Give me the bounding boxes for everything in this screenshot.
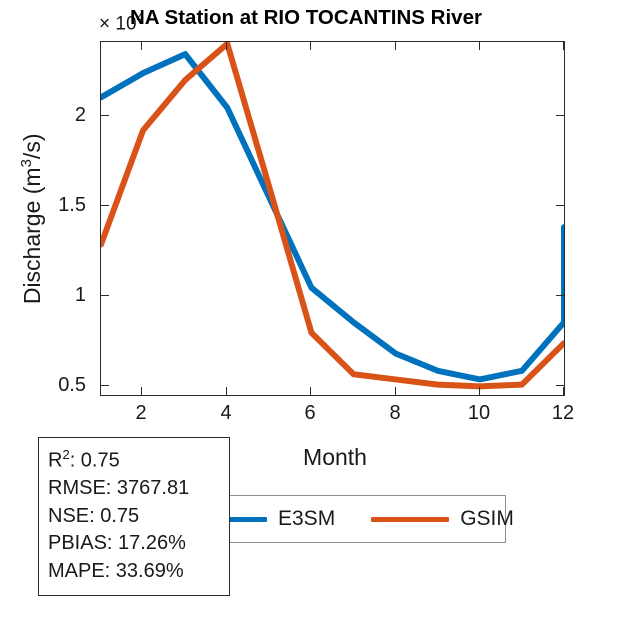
stat-r2-exponent: 2 (62, 447, 69, 462)
x-tick-mark-top (479, 41, 480, 50)
figure-canvas: × 104 NA Station at RIO TOCANTINS River … (0, 0, 625, 625)
y-tick-mark (100, 295, 109, 296)
x-tick-mark (310, 387, 311, 396)
x-tick-mark-top (226, 41, 227, 50)
data-lines-svg (101, 42, 564, 395)
x-tick-label: 10 (449, 403, 509, 423)
x-tick-mark-top (395, 41, 396, 50)
legend-swatch-gsim (371, 517, 449, 522)
x-tick-mark (479, 387, 480, 396)
y-axis-title-exponent: 3 (18, 159, 35, 167)
stat-rmse: RMSE: 3767.81 (48, 475, 229, 503)
stat-pbias: PBIAS: 17.26% (48, 530, 229, 558)
stat-mape: MAPE: 33.69% (48, 558, 229, 586)
stat-r2-symbol: R (48, 450, 62, 472)
y-axis-title: Discharge (m3/s) (18, 69, 46, 369)
x-tick-mark (563, 387, 564, 396)
y-axis-title-prefix: Discharge (m (19, 167, 45, 304)
series-line-gsim (101, 44, 564, 387)
stat-r2: R2: 0.75 (48, 446, 229, 475)
x-tick-mark (141, 387, 142, 396)
x-tick-mark-top (563, 41, 564, 50)
stat-r2-value: : 0.75 (70, 450, 120, 472)
legend[interactable]: E3SM GSIM (208, 495, 506, 543)
statistics-box: R2: 0.75 RMSE: 3767.81 NSE: 0.75 PBIAS: … (38, 437, 230, 596)
x-tick-mark-top (141, 41, 142, 50)
y-tick-mark (100, 385, 109, 386)
legend-item-e3sm[interactable]: E3SM (223, 507, 335, 531)
y-tick-label: 0.5 (36, 375, 86, 395)
y-tick-mark-right (556, 205, 565, 206)
legend-label-e3sm: E3SM (278, 507, 335, 531)
legend-label-gsim: GSIM (460, 507, 514, 531)
x-tick-mark (226, 387, 227, 396)
page-title: NA Station at RIO TOCANTINS River (130, 6, 570, 30)
legend-item-gsim[interactable]: GSIM (371, 507, 514, 531)
x-tick-label: 2 (111, 403, 171, 423)
y-tick-mark (100, 115, 109, 116)
y-axis-title-suffix: /s) (19, 134, 45, 160)
series-line-e3sm (101, 54, 564, 379)
stat-nse: NSE: 0.75 (48, 503, 229, 531)
x-tick-label: 8 (365, 403, 425, 423)
y-tick-mark-right (556, 295, 565, 296)
x-tick-mark (395, 387, 396, 396)
x-tick-label: 12 (533, 403, 593, 423)
y-tick-mark-right (556, 115, 565, 116)
plot-area (100, 41, 565, 396)
x-tick-label: 6 (280, 403, 340, 423)
x-tick-mark-top (310, 41, 311, 50)
y-tick-mark (100, 205, 109, 206)
x-tick-label: 4 (196, 403, 256, 423)
